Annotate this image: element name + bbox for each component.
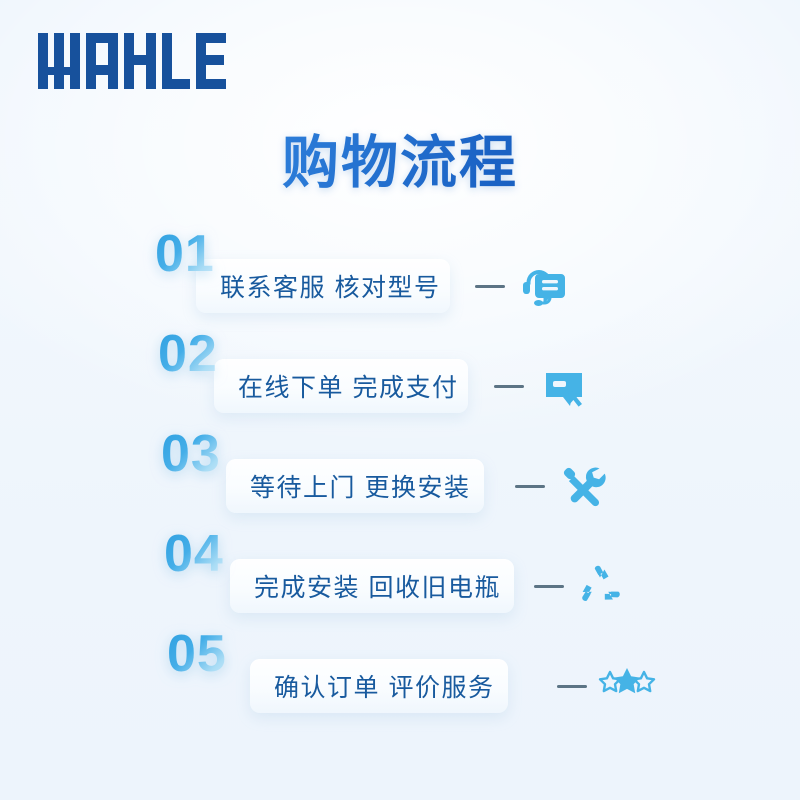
customer-service-headset-icon [517, 260, 569, 312]
step-label-pill: 确认订单 评价服务 [250, 659, 508, 713]
step-label: 在线下单 完成支付 [214, 368, 458, 404]
step-row: 04 完成安装 回收旧电瓶 [0, 528, 800, 628]
page-title: 购物流程 [0, 131, 800, 197]
step-label-pill: 完成安装 回收旧电瓶 [230, 559, 514, 613]
step-row: 05 确认订单 评价服务 [0, 628, 800, 728]
step-label-pill: 等待上门 更换安装 [226, 459, 484, 513]
wrench-screwdriver-icon [558, 460, 610, 512]
step-label: 完成安装 回收旧电瓶 [230, 568, 501, 604]
step-label: 确认订单 评价服务 [250, 668, 494, 704]
step-number: 04 [164, 528, 224, 580]
step-number: 03 [161, 428, 221, 480]
step-label-pill: 联系客服 核对型号 [196, 259, 450, 313]
recycle-icon [574, 560, 626, 612]
step-row: 01 联系客服 核对型号 [0, 228, 800, 328]
mahle-logo [38, 33, 256, 89]
step-number: 02 [158, 328, 218, 380]
chat-bubble-order-icon [538, 360, 590, 412]
step-row: 03 等待上门 更换安装 [0, 428, 800, 528]
step-label: 联系客服 核对型号 [196, 268, 440, 304]
connector-dash [475, 285, 505, 288]
three-stars-rating-icon [597, 660, 649, 712]
connector-dash [534, 585, 564, 588]
connector-dash [515, 485, 545, 488]
step-label-pill: 在线下单 完成支付 [214, 359, 468, 413]
step-label: 等待上门 更换安装 [226, 468, 470, 504]
step-number: 05 [167, 628, 227, 680]
step-number: 01 [155, 228, 215, 280]
steps-list: 01 联系客服 核对型号 [0, 228, 800, 728]
shopping-process-poster: 购物流程 01 联系客服 核对型号 [0, 0, 800, 800]
connector-dash [557, 685, 587, 688]
connector-dash [494, 385, 524, 388]
step-row: 02 在线下单 完成支付 [0, 328, 800, 428]
